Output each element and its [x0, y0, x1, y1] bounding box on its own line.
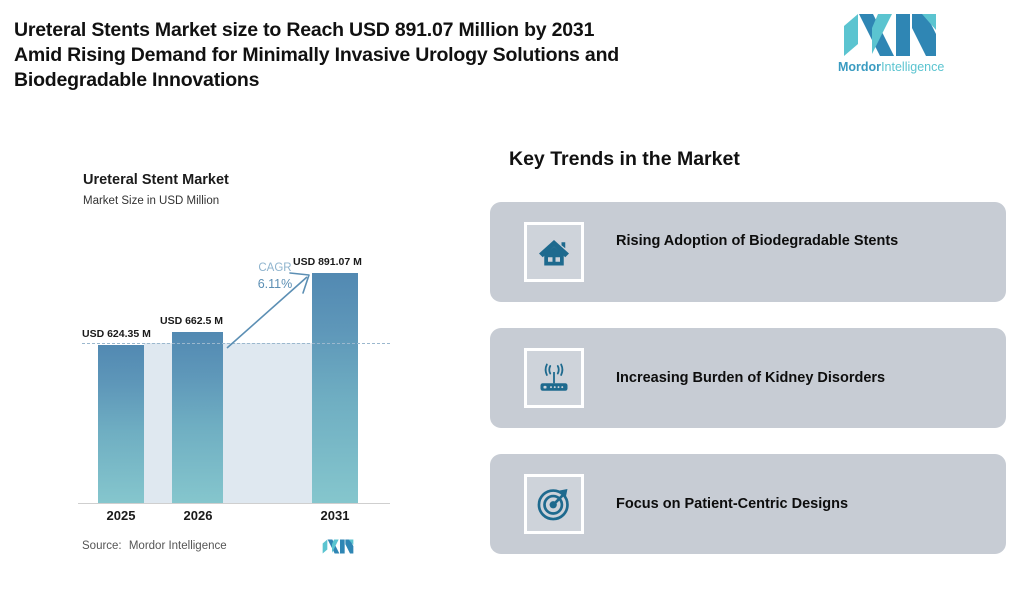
trend-card-biodegradable-stents[interactable]: Rising Adoption of Biodegradable Stents [490, 202, 1006, 302]
cagr-value: 6.11% [240, 276, 310, 292]
source-label: Source: [82, 540, 122, 552]
chart-source-text: Source: Mordor Intelligence [82, 540, 227, 552]
page-title-line-1: Ureteral Stents Market size to Reach USD… [14, 18, 814, 43]
trend-card-kidney-disorders[interactable]: Increasing Burden of Kidney Disorders [490, 328, 1006, 428]
bar-2031[interactable] [312, 273, 358, 503]
wifi-router-icon [536, 360, 572, 396]
trend-label-1: Rising Adoption of Biodegradable Stents [616, 230, 976, 252]
trend-card-patient-centric-designs[interactable]: Focus on Patient-Centric Designs [490, 454, 1006, 554]
bar-value-2025: USD 624.35 M [82, 328, 151, 340]
logo-word-mordor: Mordor [838, 60, 881, 74]
page-title-line-3: Biodegradable Innovations [14, 68, 814, 93]
filler-bar-2 [223, 343, 323, 503]
trend-icon-tile-2 [524, 348, 584, 408]
x-axis-line [78, 503, 390, 504]
key-trends-panel: Key Trends in the Market Rising Adoption… [490, 140, 1010, 560]
chart-source-row: Source: Mordor Intelligence [82, 538, 382, 560]
cagr-annotation: CAGR 6.11% [240, 260, 310, 292]
house-icon [536, 234, 572, 270]
x-tick-2026: 2026 [173, 508, 223, 523]
bar-value-2026: USD 662.5 M [160, 315, 223, 327]
page-title: Ureteral Stents Market size to Reach USD… [14, 18, 814, 93]
trend-label-3: Focus on Patient-Centric Designs [616, 493, 976, 515]
bar-2025[interactable] [98, 345, 144, 503]
logo-word-intelligence: Intelligence [881, 60, 944, 74]
cagr-word: CAGR [240, 260, 310, 276]
target-arrow-icon [535, 485, 573, 523]
mordor-intelligence-logo: MordorIntelligence [838, 14, 948, 78]
page-header: Ureteral Stents Market size to Reach USD… [0, 0, 1024, 120]
trend-label-2: Increasing Burden of Kidney Disorders [616, 367, 976, 389]
mordor-logo-wordmark: MordorIntelligence [838, 60, 948, 74]
page-title-line-2: Amid Rising Demand for Minimally Invasiv… [14, 43, 814, 68]
mordor-logo-mark [842, 14, 938, 56]
bar-2026[interactable] [172, 332, 223, 503]
key-trends-heading: Key Trends in the Market [509, 148, 740, 171]
x-tick-2025: 2025 [96, 508, 146, 523]
x-tick-2031: 2031 [310, 508, 360, 523]
filler-bar-1 [144, 343, 172, 503]
bar-chart-plot: USD 624.35 M USD 662.5 M USD 891.07 M 20… [60, 160, 390, 570]
trend-icon-tile-1 [524, 222, 584, 282]
mordor-logo-mark-small [322, 538, 354, 555]
trend-icon-tile-3 [524, 474, 584, 534]
market-size-chart-panel: Ureteral Stent Market Market Size in USD… [60, 160, 390, 570]
reference-dashed-line [82, 343, 390, 344]
source-value: Mordor Intelligence [125, 540, 227, 552]
